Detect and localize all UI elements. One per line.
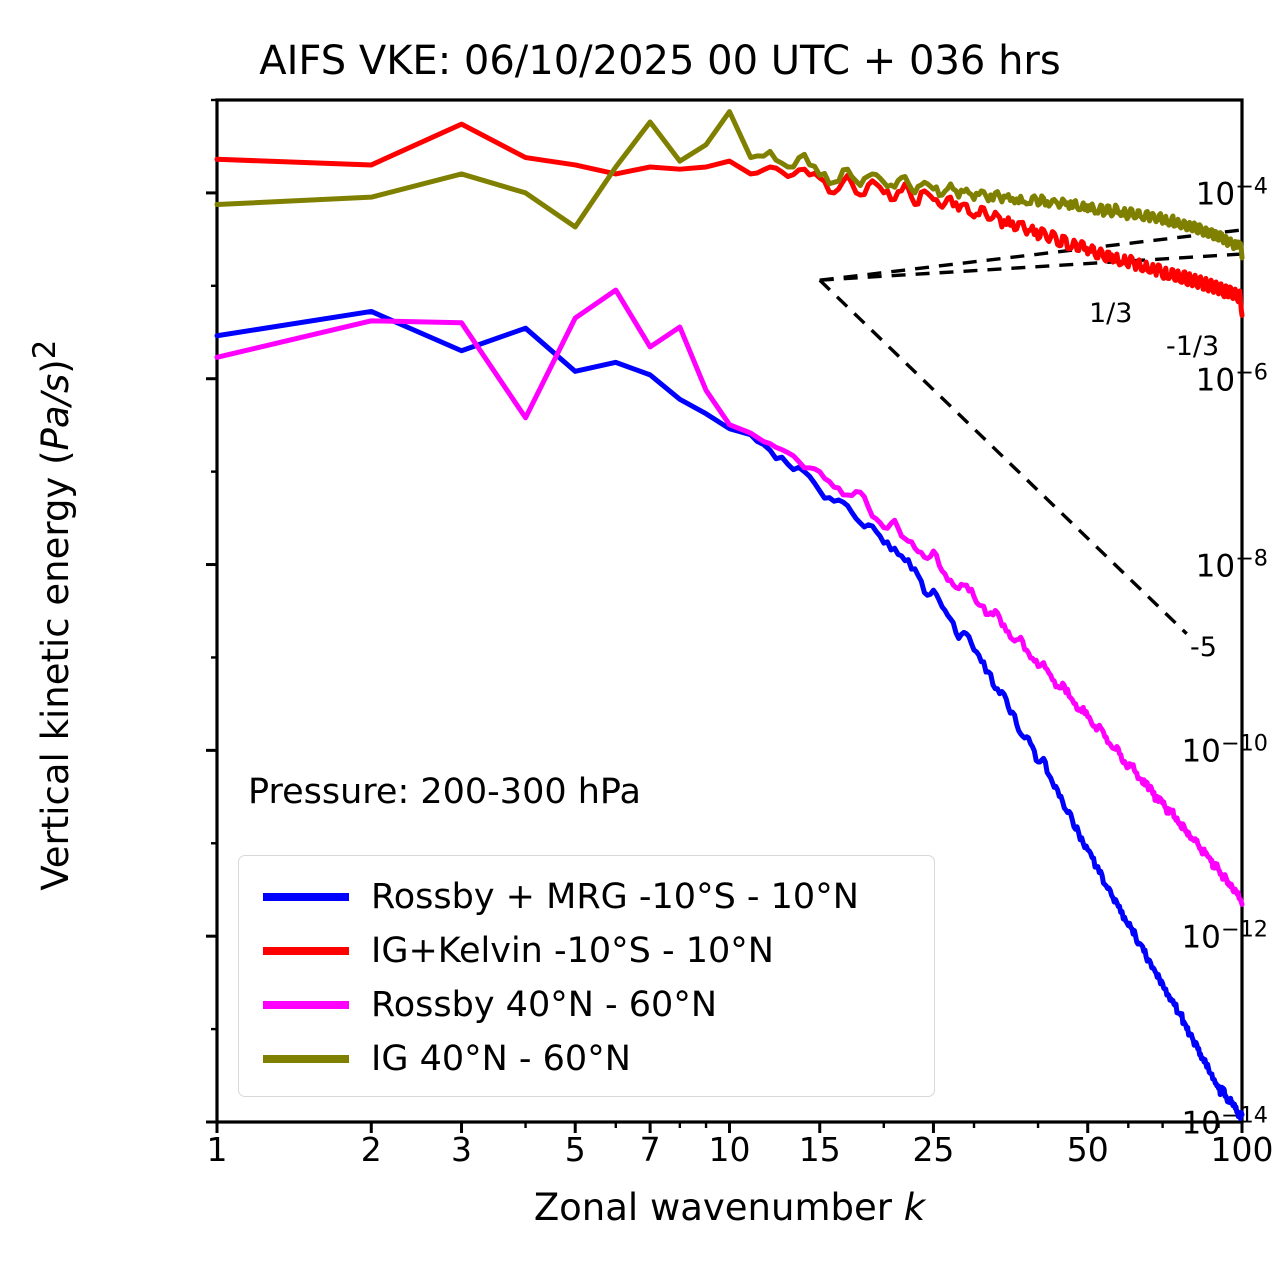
legend-item[interactable]: IG+Kelvin -10°S - 10°N xyxy=(257,924,916,978)
legend-item[interactable]: Rossby 40°N - 60°N xyxy=(257,978,916,1032)
slope-label-minus-five: -5 xyxy=(1190,632,1217,663)
reference-lines xyxy=(820,230,1242,634)
legend-color-swatch xyxy=(263,947,349,955)
slope-label-one-third: 1/3 xyxy=(1089,298,1132,329)
legend-item-label: IG 40°N - 60°N xyxy=(371,1039,631,1079)
legend-item[interactable]: Rossby + MRG -10°S - 10°N xyxy=(257,870,916,924)
chart-figure: AIFS VKE: 06/10/2025 00 UTC + 036 hrs Ve… xyxy=(0,0,1280,1288)
chart-legend[interactable]: Rossby + MRG -10°S - 10°NIG+Kelvin -10°S… xyxy=(238,855,935,1097)
legend-color-swatch xyxy=(263,1055,349,1063)
legend-item-label: IG+Kelvin -10°S - 10°N xyxy=(371,931,774,971)
legend-item[interactable]: IG 40°N - 60°N xyxy=(257,1032,916,1086)
pressure-annotation: Pressure: 200-300 hPa xyxy=(248,772,641,812)
slope-label-minus-one-third: -1/3 xyxy=(1166,331,1219,362)
legend-color-swatch xyxy=(263,893,349,901)
legend-color-swatch xyxy=(263,1001,349,1009)
legend-item-label: Rossby 40°N - 60°N xyxy=(371,985,717,1025)
legend-item-label: Rossby + MRG -10°S - 10°N xyxy=(371,877,859,917)
